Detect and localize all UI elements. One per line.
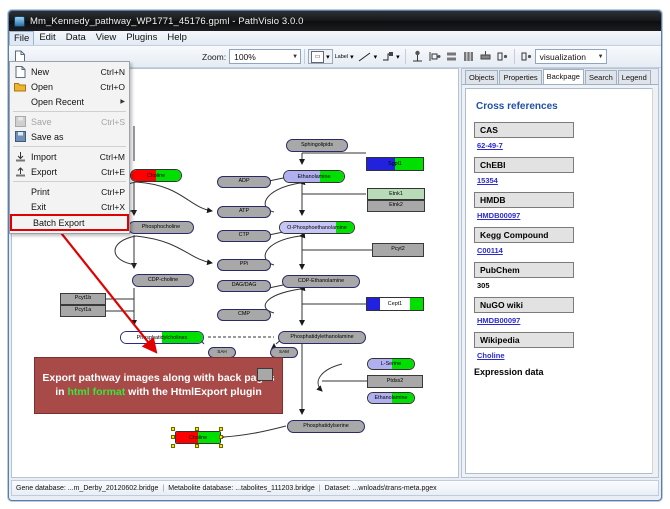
import-icon [12, 150, 28, 163]
align-middle-icon[interactable] [443, 48, 460, 65]
line-dropdown[interactable]: ▾ [356, 49, 380, 64]
menu-separator [13, 146, 126, 147]
side-panel-scrollbar[interactable] [652, 88, 657, 474]
selection-handle[interactable] [171, 435, 175, 439]
xref-kegg: Kegg Compound C00114 [474, 227, 644, 255]
xref-kegg-source: Kegg Compound [474, 227, 574, 243]
xref-chebi-link[interactable]: 15354 [477, 176, 644, 185]
menu-view[interactable]: View [91, 31, 121, 45]
zoom-label: Zoom: [202, 52, 226, 62]
node-choline-selected[interactable]: Choline [175, 431, 221, 444]
xref-wikipedia: Wikipedia Choline [474, 332, 644, 360]
line-icon [358, 52, 372, 62]
status-separator: | [162, 485, 164, 492]
menu-item-save: Save Ctrl+S [10, 114, 129, 129]
save-as-icon [12, 130, 28, 143]
menu-item-exit[interactable]: Exit Ctrl+X [10, 199, 129, 214]
menu-item-batch-export[interactable]: Batch Export [10, 214, 129, 231]
xref-kegg-link[interactable]: C00114 [477, 246, 644, 255]
selection-handle[interactable] [171, 427, 175, 431]
menu-item-open[interactable]: Open Ctrl+O [10, 79, 129, 94]
xref-hmdb: HMDB HMDB00097 [474, 192, 644, 220]
annotation-callout: Export pathway images along with back pa… [34, 357, 283, 414]
xref-cas: CAS 62-49-7 [474, 122, 644, 150]
menu-item-import-accel: Ctrl+M [100, 152, 129, 162]
application-window: Mm_Kennedy_pathway_WP1771_45176.gpml - P… [8, 10, 662, 501]
pathvisio-icon [14, 16, 25, 27]
menu-item-print-accel: Ctrl+P [101, 187, 129, 197]
chevron-down-icon: ▼ [598, 54, 604, 60]
menu-item-exit-label: Exit [31, 202, 101, 212]
visualization-value: visualization [540, 52, 586, 62]
tab-properties[interactable]: Properties [499, 70, 541, 84]
menu-separator [13, 111, 126, 112]
chevron-down-icon: ▼ [292, 54, 298, 60]
label-dropdown-label: Label [335, 54, 348, 60]
xref-wikipedia-link[interactable]: Choline [477, 351, 644, 360]
align-left-icon[interactable] [426, 48, 443, 65]
xref-hmdb-source: HMDB [474, 192, 574, 208]
visualization-icon[interactable] [518, 48, 535, 65]
xref-hmdb-link[interactable]: HMDB00097 [477, 211, 644, 220]
group-icon[interactable] [477, 48, 494, 65]
xref-nugo: NuGO wiki HMDB00097 [474, 297, 644, 325]
selection-handle[interactable] [219, 427, 223, 431]
chevron-down-icon: ▾ [396, 53, 400, 61]
blank-icon [14, 216, 30, 229]
xref-pubchem: PubChem 305 [474, 262, 644, 290]
menu-item-new-accel: Ctrl+N [101, 67, 129, 77]
selection-handle[interactable] [195, 427, 199, 431]
status-metabolite-database: Metabolite database: ...tabolites_111203… [168, 485, 314, 492]
tab-objects[interactable]: Objects [465, 70, 498, 84]
menu-item-print-label: Print [31, 187, 101, 197]
menu-item-batch-export-label: Batch Export [33, 218, 127, 228]
menu-item-save-accel: Ctrl+S [101, 117, 129, 127]
selection-handle[interactable] [171, 444, 175, 448]
menu-help[interactable]: Help [162, 31, 192, 45]
xref-cas-link[interactable]: 62-49-7 [477, 141, 644, 150]
xref-pubchem-source: PubChem [474, 262, 574, 278]
status-dataset: Dataset: ...wnloads\trans-meta.pgex [325, 485, 437, 492]
menu-item-export-label: Export [31, 167, 101, 177]
xref-chebi-source: ChEBI [474, 157, 574, 173]
menu-plugins[interactable]: Plugins [121, 31, 162, 45]
menu-separator [13, 181, 126, 182]
menu-item-save-as-label: Save as [31, 132, 125, 142]
menu-item-save-as[interactable]: Save as [10, 129, 129, 144]
backpage-content: Cross references CAS 62-49-7 ChEBI 15354… [465, 88, 653, 474]
menu-item-new[interactable]: New Ctrl+N [10, 64, 129, 79]
toolbar-divider [304, 49, 305, 64]
save-disk-icon [12, 115, 28, 128]
tab-search[interactable]: Search [585, 70, 617, 84]
distribute-icon[interactable] [460, 48, 477, 65]
export-icon [12, 165, 28, 178]
status-bar: Gene database: ...m_Derby_20120602.bridg… [11, 480, 659, 496]
blank-icon [12, 200, 28, 213]
menu-item-open-recent-label: Open Recent [31, 97, 120, 107]
open-folder-icon [12, 80, 28, 93]
toolbar-divider [405, 49, 406, 64]
chevron-right-icon: ▶ [120, 98, 129, 105]
side-panel: Objects Properties Backpage Search Legen… [461, 68, 659, 478]
selection-handle[interactable] [219, 435, 223, 439]
xref-pubchem-value: 305 [477, 281, 644, 290]
shape-icon: ▭ [311, 51, 324, 63]
menu-edit[interactable]: Edit [34, 31, 60, 45]
selection-handle[interactable] [195, 444, 199, 448]
menu-item-open-accel: Ctrl+O [100, 82, 129, 92]
menu-item-print[interactable]: Print Ctrl+P [10, 184, 129, 199]
visualization-combo[interactable]: visualization ▼ [535, 49, 607, 64]
shape-dropdown[interactable]: ▭ ▾ [308, 49, 333, 64]
file-menu-dropdown[interactable]: New Ctrl+N Open Ctrl+O Open Recent ▶ [9, 61, 130, 234]
chevron-down-icon: ▾ [350, 53, 354, 61]
order-icon[interactable] [494, 48, 511, 65]
menu-item-import-label: Import [31, 152, 100, 162]
window-title: Mm_Kennedy_pathway_WP1771_45176.gpml - P… [30, 16, 304, 27]
xref-nugo-source: NuGO wiki [474, 297, 574, 313]
menu-item-open-recent[interactable]: Open Recent ▶ [10, 94, 129, 109]
chevron-down-icon: ▾ [374, 53, 378, 61]
menu-file[interactable]: File [9, 31, 34, 45]
interaction-icon [381, 51, 394, 62]
menu-item-save-label: Save [31, 117, 101, 127]
menu-bar: File Edit Data View Plugins Help [9, 31, 662, 46]
xref-nugo-link[interactable]: HMDB00097 [477, 316, 644, 325]
menu-item-exit-accel: Ctrl+X [101, 202, 129, 212]
callout-highlight: html format [68, 386, 126, 398]
menu-item-export-accel: Ctrl+E [101, 167, 129, 177]
selection-handle[interactable] [219, 444, 223, 448]
menu-item-export[interactable]: Export Ctrl+E [10, 164, 129, 179]
new-document-icon [12, 65, 28, 78]
xref-chebi: ChEBI 15354 [474, 157, 644, 185]
interaction-dropdown[interactable]: ▾ [379, 49, 402, 64]
menu-item-open-label: Open [31, 82, 100, 92]
side-panel-tabs: Objects Properties Backpage Search Legen… [462, 69, 658, 85]
tab-backpage[interactable]: Backpage [543, 69, 584, 84]
tab-legend[interactable]: Legend [618, 70, 651, 84]
align-center-icon[interactable] [409, 48, 426, 65]
blank-icon [12, 185, 28, 198]
title-bar: Mm_Kennedy_pathway_WP1771_45176.gpml - P… [9, 11, 662, 31]
xref-cas-source: CAS [474, 122, 574, 138]
zoom-combo[interactable]: 100% ▼ [229, 49, 301, 64]
xref-wikipedia-source: Wikipedia [474, 332, 574, 348]
status-gene-database: Gene database: ...m_Derby_20120602.bridg… [16, 485, 158, 492]
blank-icon [12, 95, 28, 108]
status-separator: | [319, 485, 321, 492]
menu-data[interactable]: Data [61, 31, 91, 45]
toolbar-divider [514, 49, 515, 64]
chevron-down-icon: ▾ [326, 53, 330, 61]
menu-item-import[interactable]: Import Ctrl+M [10, 149, 129, 164]
label-dropdown[interactable]: Label ▾ [333, 49, 356, 64]
zoom-value: 100% [234, 52, 256, 62]
cross-references-heading: Cross references [476, 101, 644, 112]
expression-data-heading: Expression data [474, 367, 644, 377]
menu-item-new-label: New [31, 67, 101, 77]
callout-text-after: with the HtmlExport plugin [125, 386, 262, 398]
node-choline-selected-label: Choline [176, 432, 220, 443]
screenshot-root: Mm_Kennedy_pathway_WP1771_45176.gpml - P… [0, 0, 670, 509]
